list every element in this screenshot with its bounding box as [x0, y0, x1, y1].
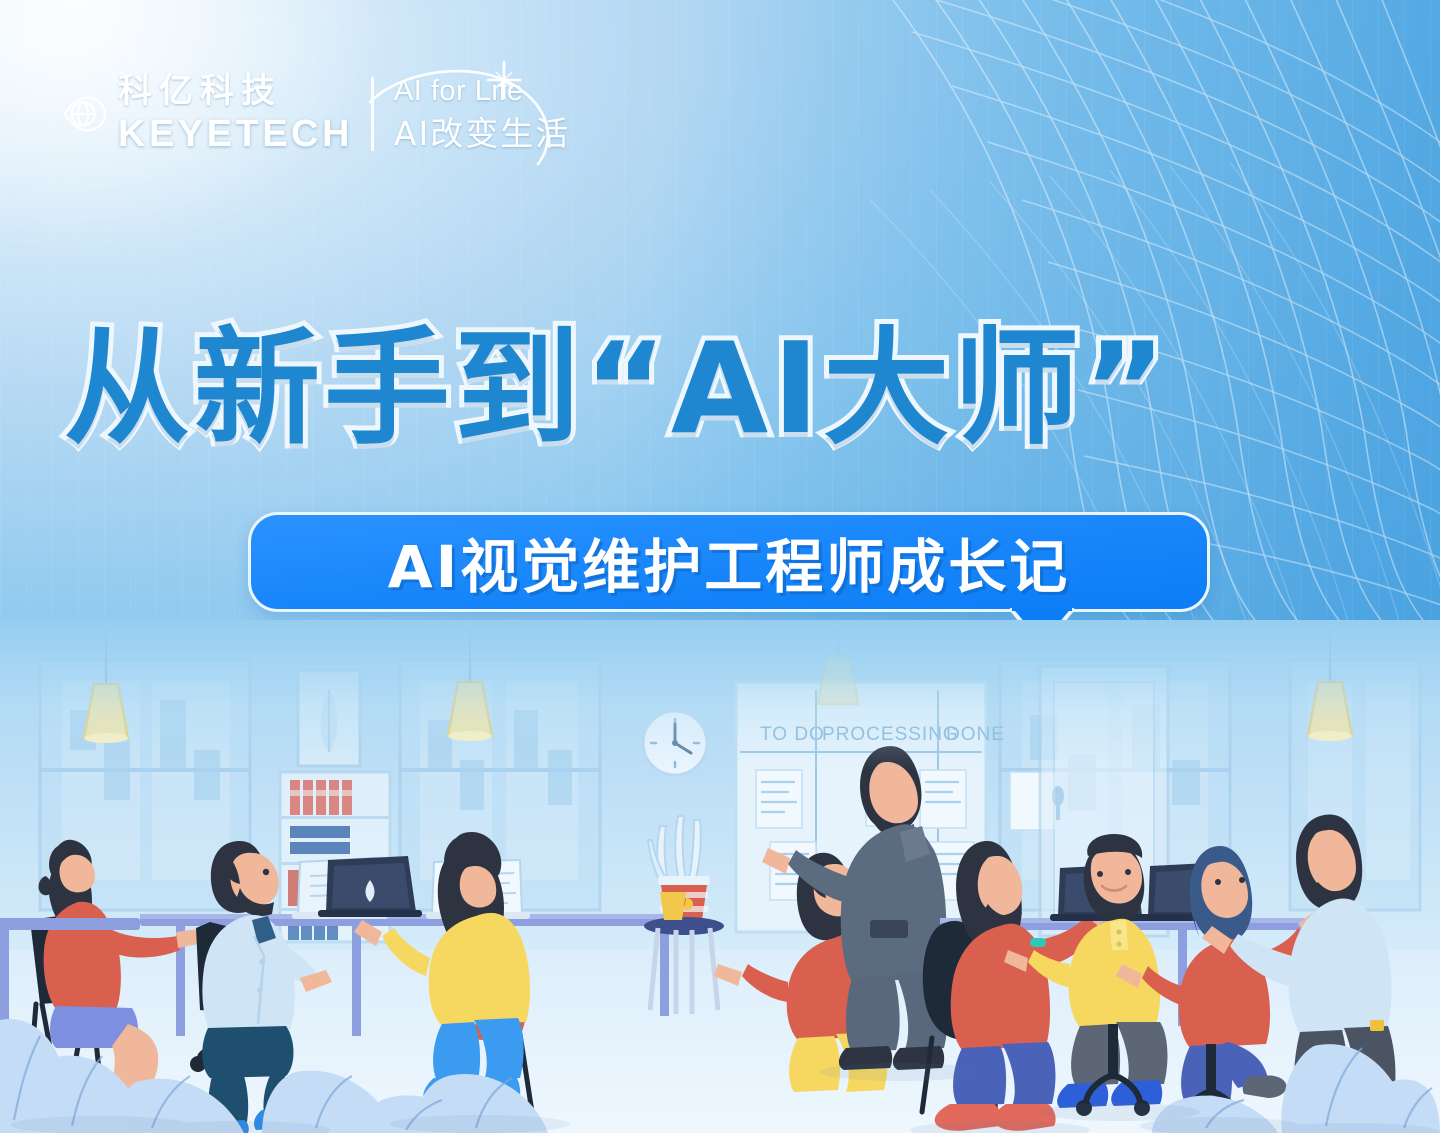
eye-aperture-icon: [62, 91, 108, 137]
office-scene-svg: TO DO PROCESSING DONE: [0, 620, 1440, 1133]
brand-name-cn: 科亿科技: [118, 74, 353, 108]
framed-picture: [298, 670, 360, 766]
subtitle-text: AI视觉维护工程师成长记: [388, 520, 1070, 604]
page-title: 从新手到“AI大师”: [64, 326, 1394, 452]
svg-text:DONE: DONE: [946, 724, 1005, 745]
brand-logo-lockup[interactable]: 科亿科技 KEYETECH AI for Life AI改变生活: [62, 74, 570, 153]
office-illustration: TO DO PROCESSING DONE: [0, 620, 1440, 1133]
logo-divider: [371, 77, 374, 151]
wall-clock: [643, 711, 707, 775]
laptop: [318, 856, 422, 917]
brand-slogan-en: AI for Life: [394, 77, 570, 106]
brand-name-en: KEYETECH: [118, 115, 353, 153]
brand-slogan-cn: AI改变生活: [394, 117, 570, 150]
subtitle-banner-body: AI视觉维护工程师成长记: [248, 512, 1210, 612]
promo-banner: 科亿科技 KEYETECH AI for Life AI改变生活 从新手到“AI…: [0, 0, 1440, 1133]
subtitle-banner: AI视觉维护工程师成长记: [248, 512, 1210, 612]
